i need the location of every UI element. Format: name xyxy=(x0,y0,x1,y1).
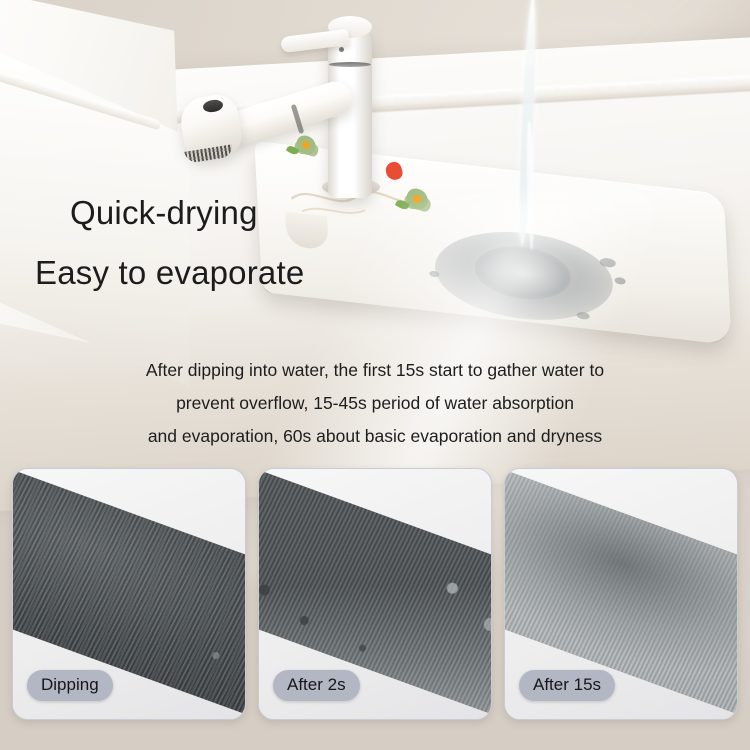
water-droplet xyxy=(614,277,625,285)
panel-label-dipping: Dipping xyxy=(27,670,113,701)
panel-label-after-15s: After 15s xyxy=(519,670,615,701)
panel-dipping: Dipping xyxy=(12,468,246,720)
flower-decal xyxy=(402,184,429,215)
panel-after-15s: After 15s xyxy=(504,468,738,720)
comparison-panels: Dipping After 2s After 15s xyxy=(12,468,738,726)
faucet-pin xyxy=(339,47,344,52)
flower-decal xyxy=(293,131,318,159)
water-droplet xyxy=(429,271,439,278)
faucet-seam-ring xyxy=(329,62,371,67)
headline-line-2: Easy to evaporate xyxy=(35,254,304,292)
product-photo: Quick-drying Easy to evaporate After dip… xyxy=(0,0,750,750)
description-line-3: and evaporation, 60s about basic evapora… xyxy=(0,420,750,453)
description-block: After dipping into water, the first 15s … xyxy=(0,354,750,453)
water-droplet xyxy=(576,312,589,320)
flower-center xyxy=(413,194,421,203)
description-line-2: prevent overflow, 15-45s period of water… xyxy=(0,387,750,420)
panel-after-2s: After 2s xyxy=(258,468,492,720)
headline-line-1: Quick-drying xyxy=(70,194,258,232)
panel-label-after-2s: After 2s xyxy=(273,670,360,701)
flower-center xyxy=(302,141,310,150)
water-splash xyxy=(422,216,627,339)
description-line-1: After dipping into water, the first 15s … xyxy=(0,354,750,387)
